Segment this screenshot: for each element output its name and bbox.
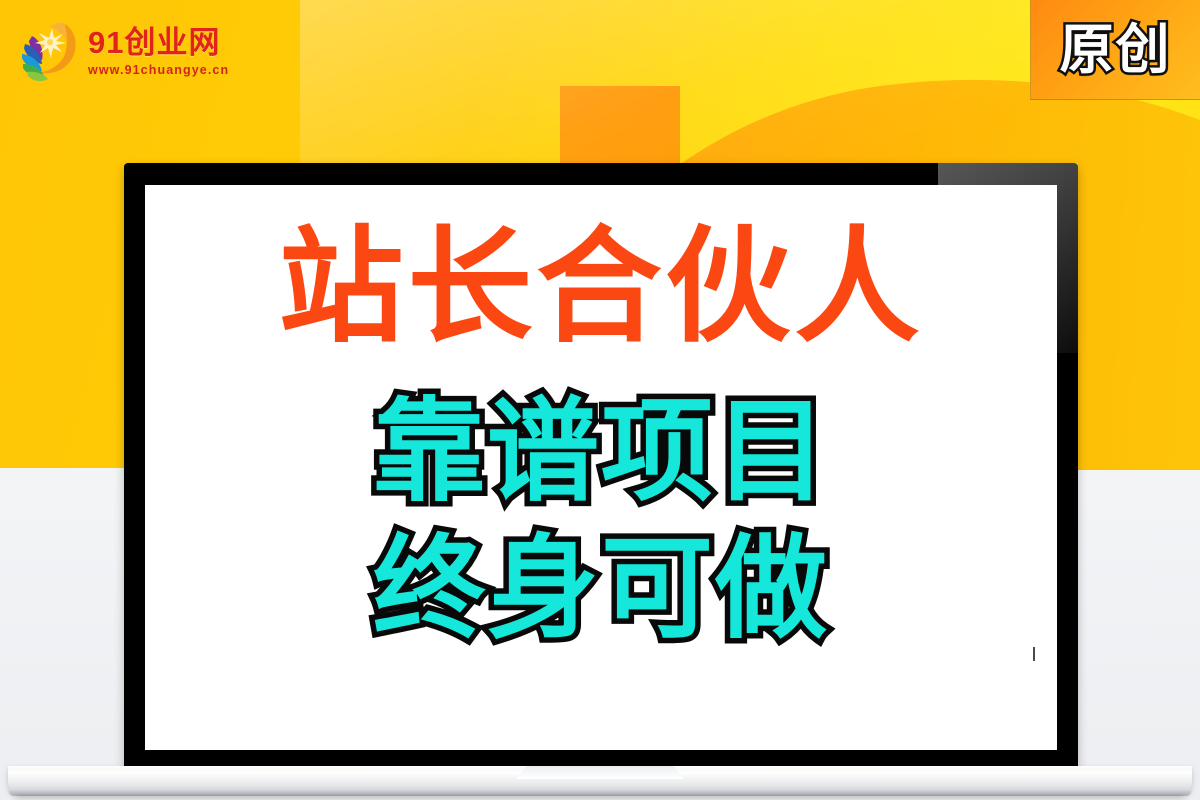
laptop-bezel: 站长合伙人 靠谱项目 终身可做: [124, 163, 1078, 771]
original-content-badge: 原创: [1030, 0, 1200, 100]
headline-line-1: 站长合伙人: [145, 225, 1057, 350]
brand-website-url: www.91chuangye.cn: [88, 64, 229, 77]
logo-text-block: 91创业网 www.91chuangye.cn: [88, 27, 229, 77]
headline-line-2: 靠谱项目: [145, 384, 1057, 521]
laptop-base-notch: [516, 766, 684, 779]
promo-banner-canvas: 91创业网 www.91chuangye.cn 原创 站长合伙人 靠谱项目 终身…: [0, 0, 1200, 800]
site-logo[interactable]: 91创业网 www.91chuangye.cn: [8, 6, 258, 98]
brand-name: 91创业网: [88, 27, 229, 58]
laptop-base-edge: [8, 790, 1192, 796]
laptop-base: [8, 766, 1192, 796]
headline-group: 站长合伙人 靠谱项目 终身可做: [145, 225, 1057, 657]
headline-line-3: 终身可做: [145, 521, 1057, 658]
text-caret: [1033, 647, 1035, 661]
original-content-badge-label: 原创: [1060, 23, 1172, 77]
colorful-flower-logo-icon: [8, 14, 84, 90]
laptop-screen: 站长合伙人 靠谱项目 终身可做: [145, 185, 1057, 750]
